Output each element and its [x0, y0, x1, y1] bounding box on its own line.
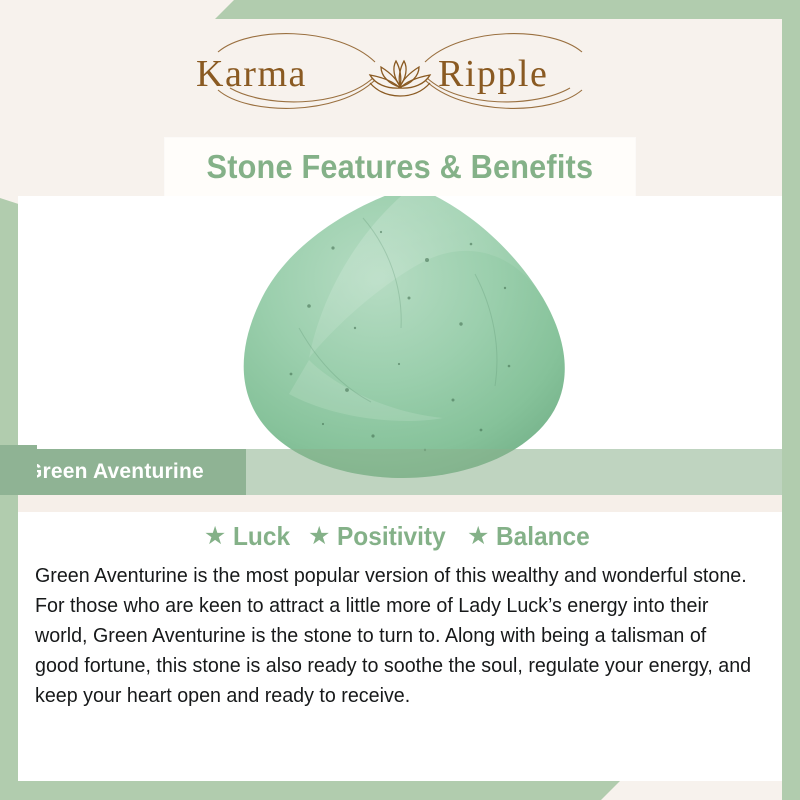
title-banner: Stone Features & Benefits [165, 138, 635, 196]
frame-bottom-band [0, 781, 620, 800]
keyword-list: ★ Luck ★ Positivity ★ Balance [18, 521, 782, 552]
stone-photo-panel: Green Aventurine [18, 196, 782, 495]
infographic-page: Karma Ripple Stone Features & Benefits [0, 0, 800, 800]
lotus-flower-icon [370, 61, 430, 96]
keyword-item-luck: ★ Luck [204, 521, 294, 552]
brand-name-right: Ripple [438, 53, 548, 95]
description-paragraph: Green Aventurine is the most popular ver… [35, 561, 755, 711]
stone-name-label: Green Aventurine [18, 460, 204, 484]
page-title: Stone Features & Benefits [207, 148, 594, 186]
star-icon: ★ [204, 524, 226, 549]
keyword-item-balance: ★ Balance [467, 521, 596, 552]
description-panel: ★ Luck ★ Positivity ★ Balance Green Aven… [18, 512, 782, 781]
green-aventurine-stone-image [213, 196, 613, 488]
caption-left-extension [0, 445, 37, 495]
frame-top-band [215, 0, 800, 19]
star-icon: ★ [308, 524, 330, 549]
keyword-item-positivity: ★ Positivity [308, 521, 453, 552]
keyword-label: Balance [496, 521, 590, 552]
frame-right-band [782, 0, 800, 800]
section-divider [18, 495, 782, 512]
star-icon: ★ [467, 524, 489, 549]
keyword-label: Luck [233, 521, 290, 552]
brand-name-left: Karma [196, 53, 307, 95]
logo-artwork: Karma Ripple [170, 28, 630, 114]
brand-logo: Karma Ripple [0, 28, 800, 114]
keyword-label: Positivity [337, 521, 446, 552]
stone-name-badge: Green Aventurine [18, 449, 246, 495]
